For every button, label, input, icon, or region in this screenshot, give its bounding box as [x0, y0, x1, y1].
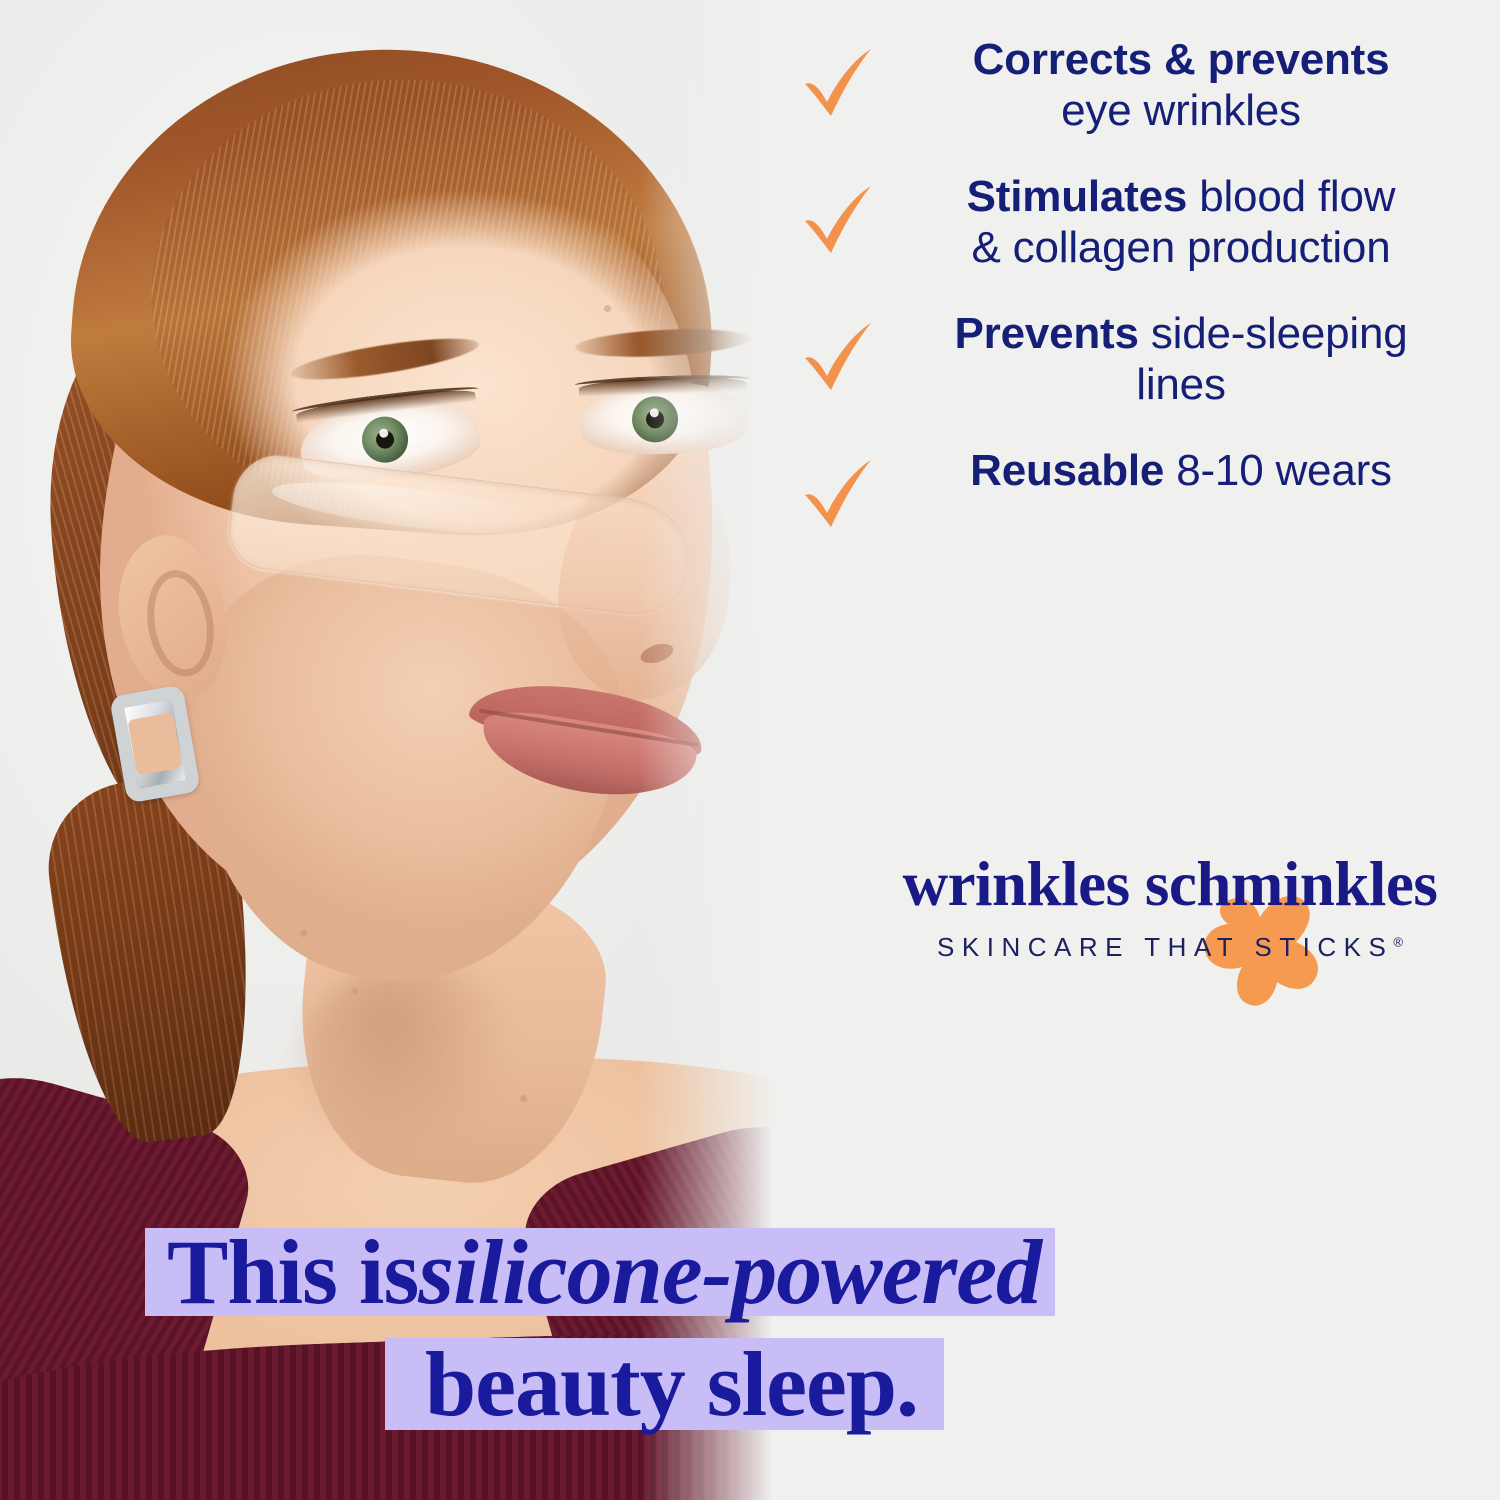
benefit-rest: blood flow	[1187, 172, 1395, 221]
headline-line-1: This is silicone-powered	[145, 1228, 1055, 1316]
freckle	[300, 930, 307, 937]
tagline: SKINCARE THAT STICKS®	[860, 932, 1480, 963]
benefit-rest: 8-10 wears	[1164, 446, 1392, 495]
headline-plain: This is	[167, 1219, 418, 1325]
check-icon	[795, 451, 881, 537]
freckle	[352, 988, 358, 994]
registered-mark: ®	[1393, 934, 1403, 949]
benefit-bold: Corrects & prevents	[973, 35, 1390, 84]
benefit-item: Corrects & prevents eye wrinkles	[795, 34, 1485, 137]
wordmark: wrinkles schminkles	[860, 848, 1480, 921]
brand-logo: wrinkles schminkles SKINCARE THAT STICKS…	[860, 848, 1480, 1018]
headline-line-2: beauty sleep.	[385, 1338, 944, 1430]
earring-inner-fill	[127, 712, 182, 775]
headline-italic: silicone-powered	[418, 1219, 1041, 1325]
freckle	[604, 305, 611, 312]
benefit-text: Corrects & prevents eye wrinkles	[881, 34, 1485, 137]
benefit-item: Stimulates blood flow & collagen product…	[795, 171, 1485, 274]
benefit-rest: eye wrinkles	[1061, 86, 1301, 135]
benefit-item: Reusable 8-10 wears	[795, 445, 1485, 537]
check-icon	[795, 40, 881, 126]
benefit-second-line: lines	[1136, 360, 1226, 409]
check-icon	[795, 177, 881, 263]
benefit-bold: Stimulates	[967, 172, 1188, 221]
benefit-item: Prevents side-sleeping lines	[795, 308, 1485, 411]
benefit-bold: Prevents	[955, 309, 1139, 358]
benefit-text: Prevents side-sleeping lines	[881, 308, 1485, 411]
benefit-rest: side-sleeping	[1139, 309, 1408, 358]
benefit-second-line: & collagen production	[972, 223, 1391, 272]
benefit-bold: Reusable	[970, 446, 1164, 495]
benefits-list: Corrects & prevents eye wrinkles Stimula…	[795, 34, 1485, 571]
ad-creative: Corrects & prevents eye wrinkles Stimula…	[0, 0, 1500, 1500]
check-icon	[795, 314, 881, 400]
freckle	[520, 1095, 527, 1102]
neck-shadow	[300, 960, 520, 1160]
benefit-text: Reusable 8-10 wears	[881, 445, 1485, 496]
benefit-text: Stimulates blood flow & collagen product…	[881, 171, 1485, 274]
tagline-text: SKINCARE THAT STICKS	[937, 932, 1393, 962]
